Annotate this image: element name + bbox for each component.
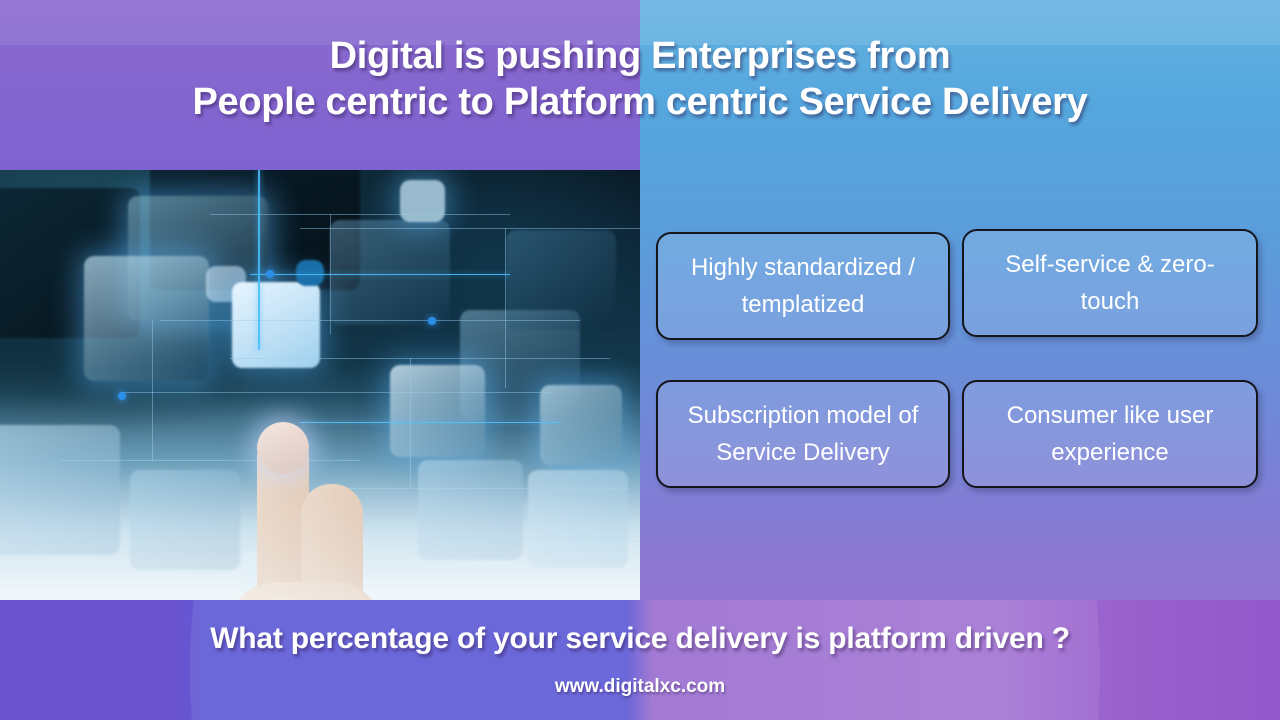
slide-canvas: Digital is pushing Enterprises from Peop… [0, 0, 1280, 720]
footer-banner [0, 600, 1280, 720]
feature-box-subscription-model[interactable]: Subscription model of Service Delivery [656, 380, 950, 488]
digital-touch-photo [0, 170, 640, 600]
feature-box-consumer-like-ux[interactable]: Consumer like user experience [962, 380, 1258, 488]
feature-box-highly-standardized[interactable]: Highly standardized / templatized [656, 232, 950, 340]
top-strip-right [640, 0, 1280, 45]
feature-box-label: Self-service & zero-touch [964, 246, 1256, 320]
footer-arc-decor [190, 600, 1100, 720]
feature-box-label: Consumer like user experience [964, 397, 1256, 471]
top-strip-left [0, 0, 640, 45]
photo-haze-overlay [0, 170, 640, 600]
footer-question: What percentage of your service delivery… [0, 622, 1280, 656]
feature-box-self-service[interactable]: Self-service & zero-touch [962, 229, 1258, 337]
footer-website[interactable]: www.digitalxc.com [0, 676, 1280, 698]
feature-box-label: Subscription model of Service Delivery [658, 397, 948, 471]
feature-box-label: Highly standardized / templatized [658, 249, 948, 323]
